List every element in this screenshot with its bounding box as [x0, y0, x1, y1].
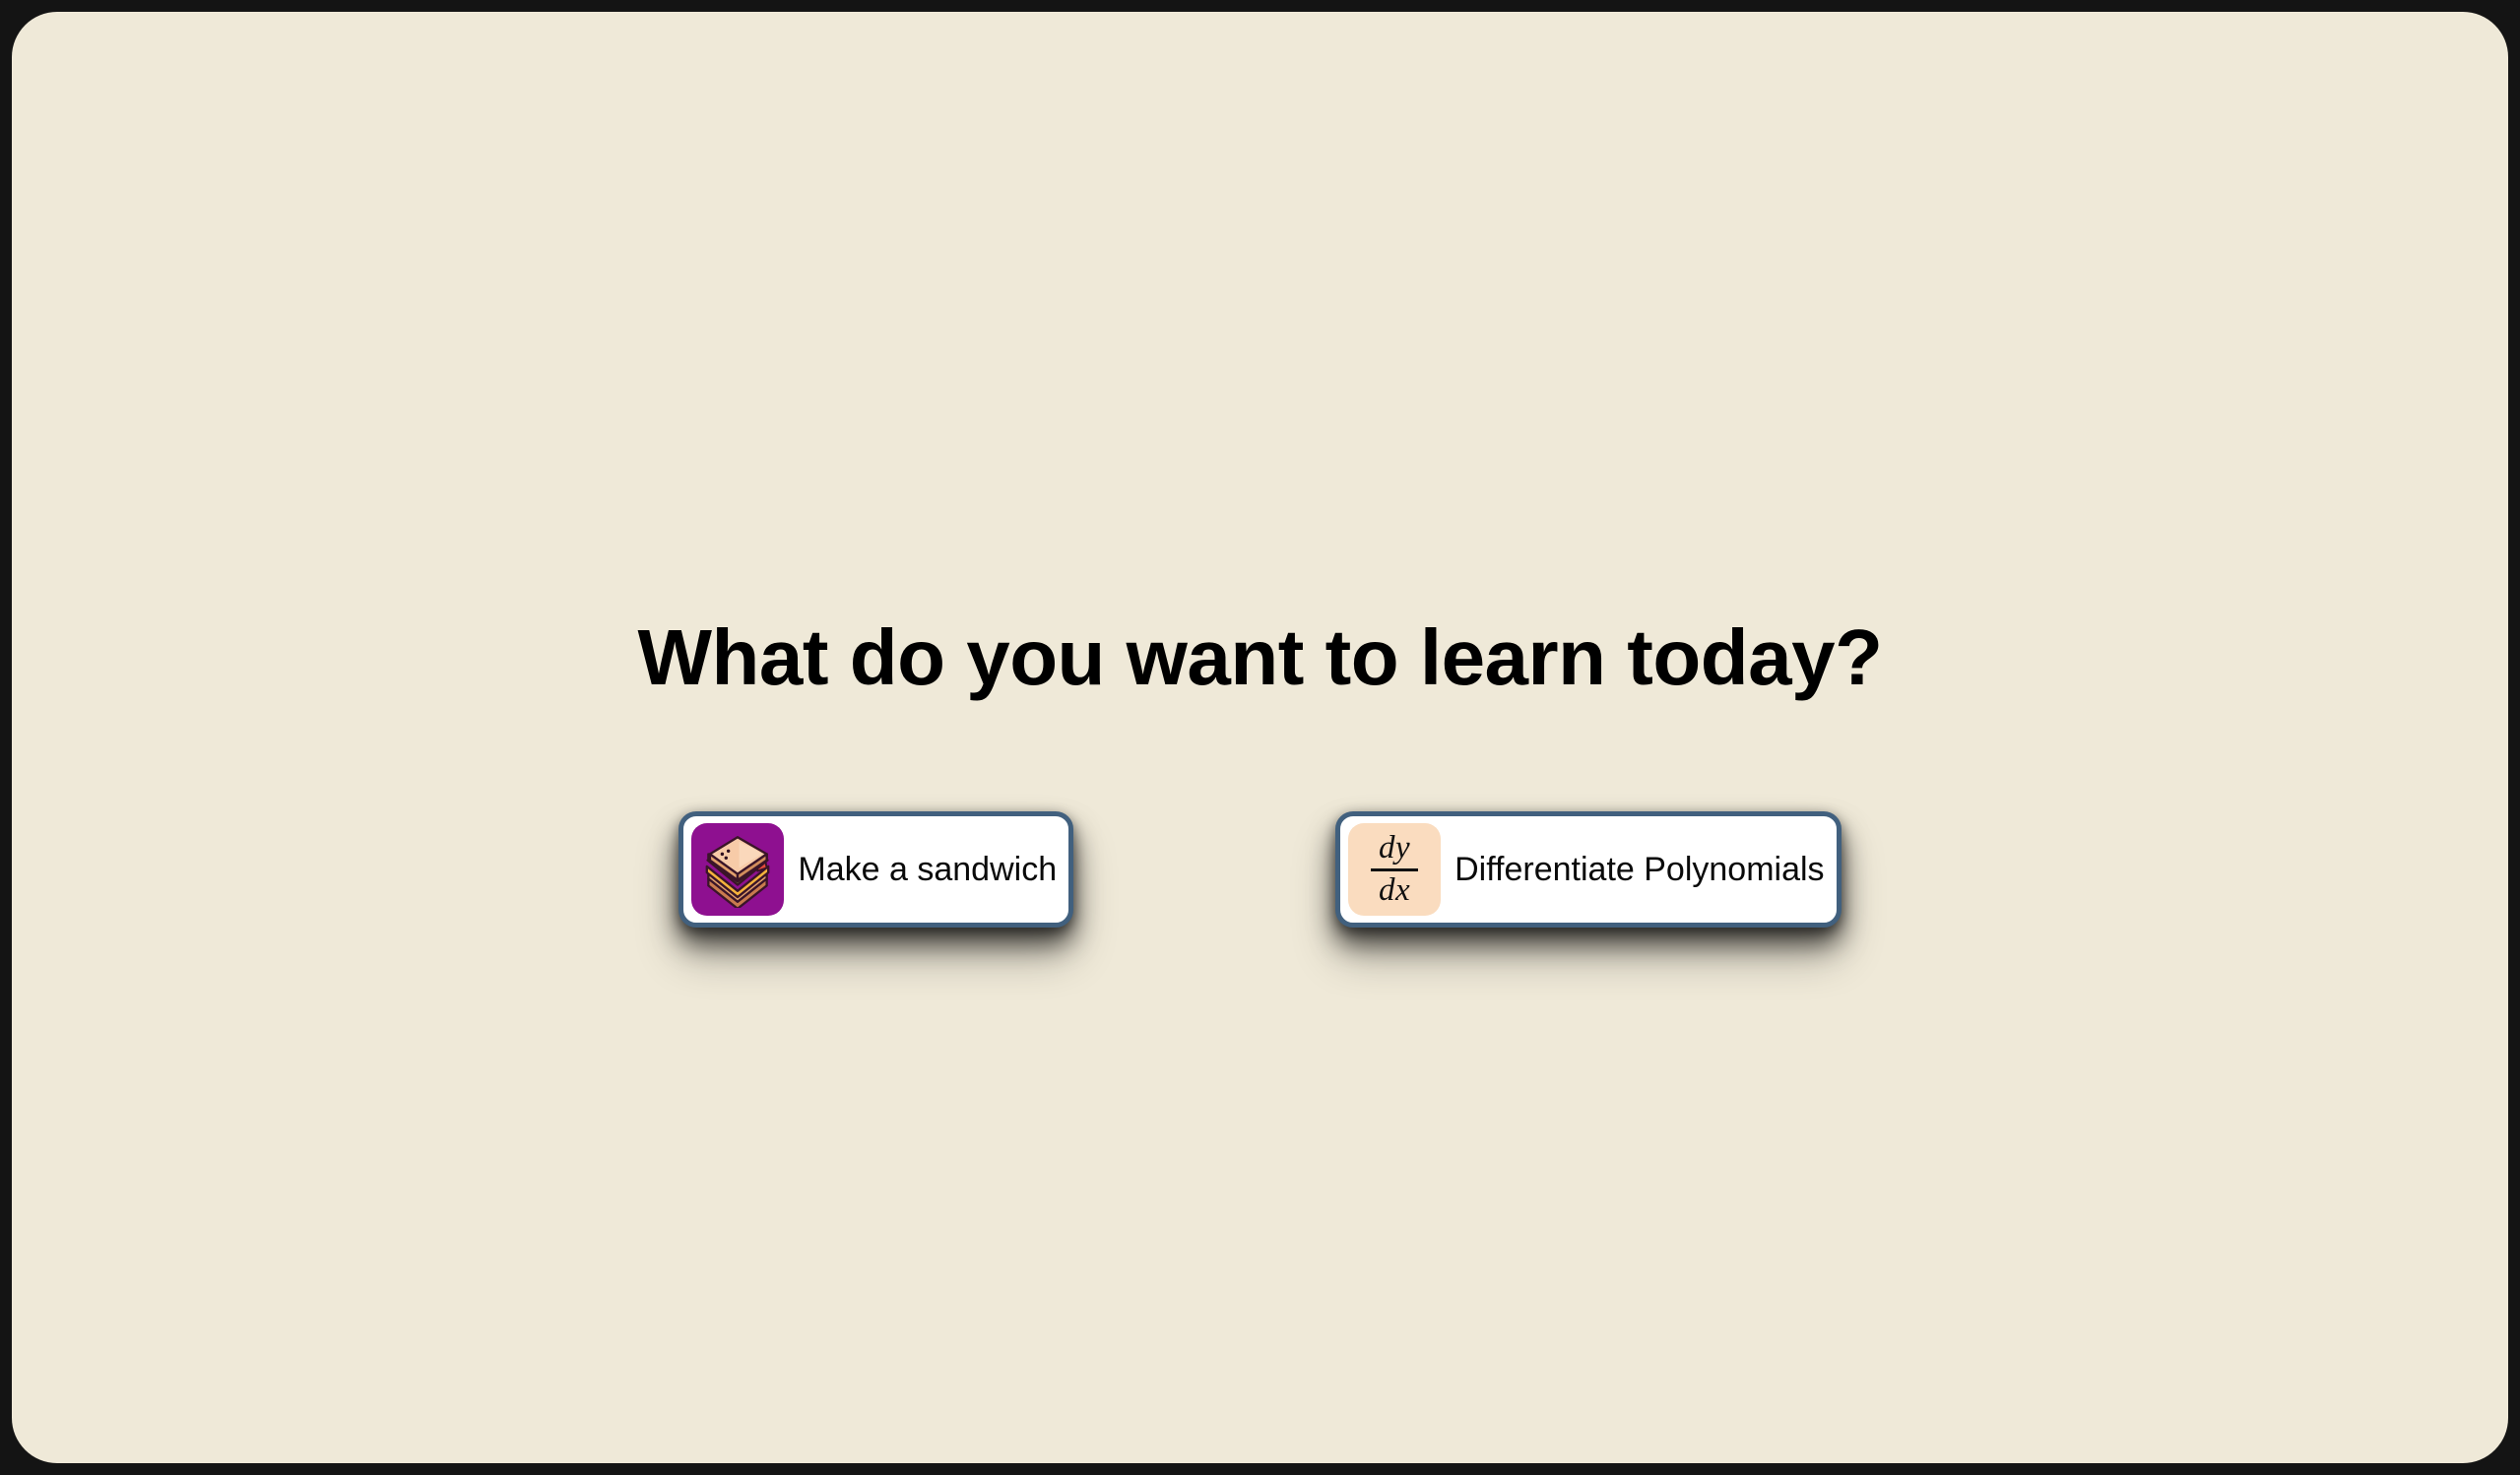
main-content: What do you want to learn today? — [12, 12, 2508, 1463]
dydx-numerator: dy — [1379, 833, 1410, 864]
dydx-denominator: dx — [1379, 875, 1410, 906]
page-title: What do you want to learn today? — [12, 618, 2508, 697]
window-frame: What do you want to learn today? — [0, 0, 2520, 1475]
derivative-dydx-icon: dy dx — [1348, 823, 1441, 916]
option-card-label: Differentiate Polynomials — [1454, 853, 1824, 886]
sandwich-icon — [691, 823, 784, 916]
option-card-row: Make a sandwich dy dx Differentiate Poly… — [12, 811, 2508, 928]
option-card-make-a-sandwich[interactable]: Make a sandwich — [678, 811, 1073, 928]
option-card-differentiate-polynomials[interactable]: dy dx Differentiate Polynomials — [1335, 811, 1841, 928]
page-surface: What do you want to learn today? — [12, 12, 2508, 1463]
fraction-bar-icon — [1371, 868, 1418, 871]
option-card-label: Make a sandwich — [798, 853, 1057, 886]
